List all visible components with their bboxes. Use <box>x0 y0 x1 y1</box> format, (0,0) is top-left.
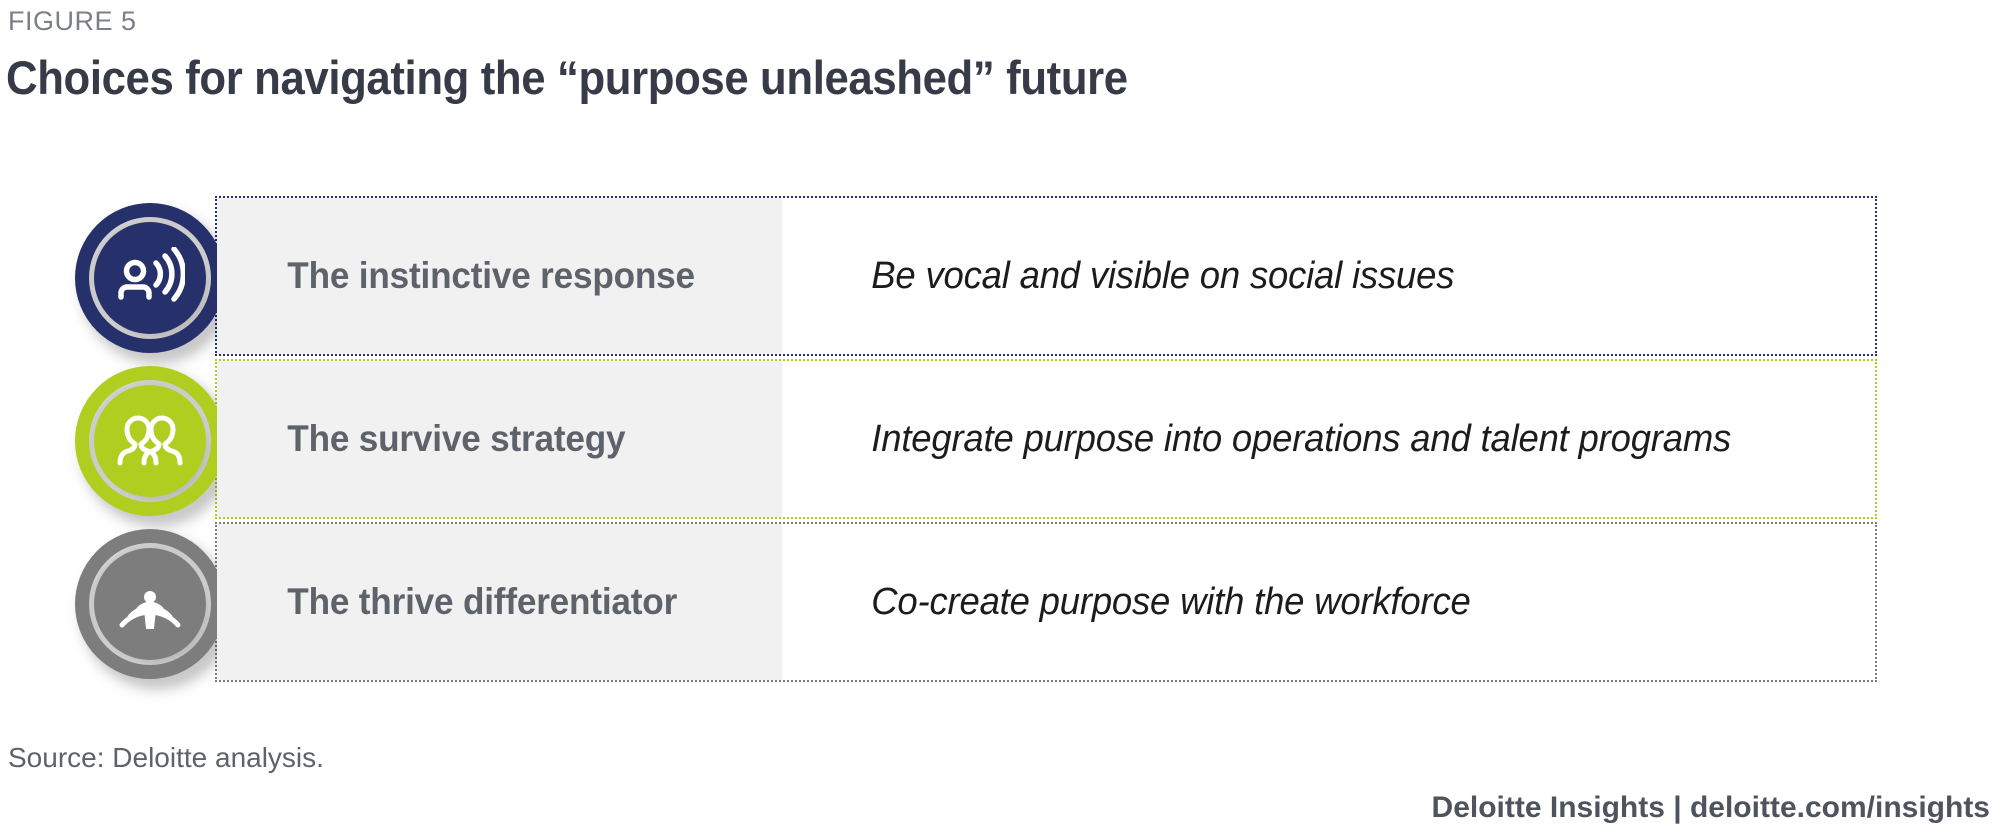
table-row: The instinctive response Be vocal and vi… <box>215 196 1877 356</box>
icon-core <box>94 385 206 497</box>
choices-matrix: The instinctive response Be vocal and vi… <box>215 196 1877 682</box>
icon-core <box>94 548 206 660</box>
row-label-text: The survive strategy <box>217 418 625 460</box>
row-label-cell: The thrive differentiator <box>217 524 782 680</box>
row-description-text: Be vocal and visible on social issues <box>782 255 1454 298</box>
row-label-cell: The survive strategy <box>217 361 782 517</box>
person-signal-icon <box>75 529 225 679</box>
publisher-credit[interactable]: Deloitte Insights | deloitte.com/insight… <box>1432 791 1990 825</box>
person-broadcast-icon <box>75 203 225 353</box>
row-description-text: Integrate purpose into operations and ta… <box>782 418 1731 461</box>
row-description-text: Co-create purpose with the workforce <box>782 581 1471 624</box>
row-description-cell: Integrate purpose into operations and ta… <box>782 361 1875 517</box>
row-label-text: The thrive differentiator <box>217 581 677 623</box>
source-note: Source: Deloitte analysis. <box>8 742 324 774</box>
row-description-cell: Co-create purpose with the workforce <box>782 524 1875 680</box>
row-description-cell: Be vocal and visible on social issues <box>782 198 1875 354</box>
page-title: Choices for navigating the “purpose unle… <box>6 50 1128 105</box>
figure-container: FIGURE 5 Choices for navigating the “pur… <box>0 0 2000 833</box>
two-people-icon <box>75 366 225 516</box>
figure-number-label: FIGURE 5 <box>8 6 137 37</box>
row-label-cell: The instinctive response <box>217 198 782 354</box>
table-row: The thrive differentiator Co-create purp… <box>215 522 1877 682</box>
row-label-text: The instinctive response <box>217 255 695 297</box>
table-row: The survive strategy Integrate purpose i… <box>215 359 1877 519</box>
icon-core <box>94 222 206 334</box>
